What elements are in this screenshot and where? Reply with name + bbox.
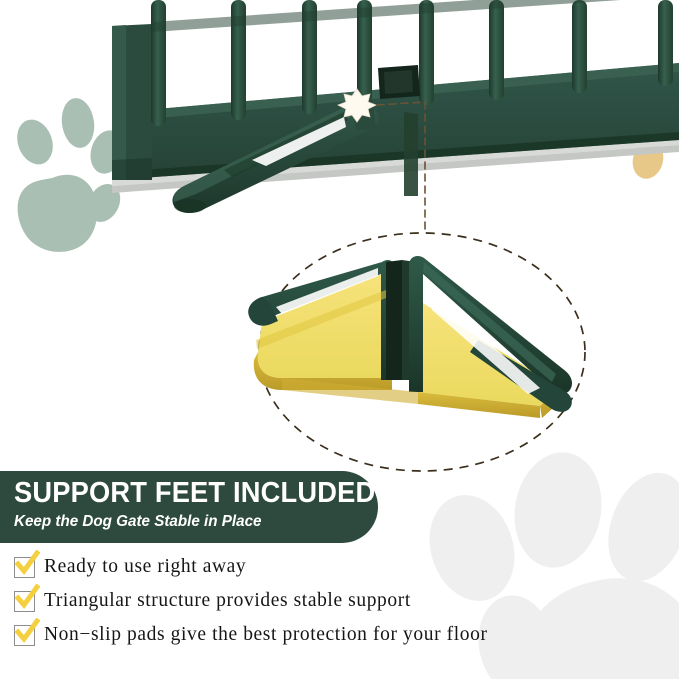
feature-label: Non−slip pads give the best protection f… <box>44 624 488 646</box>
checkbox-checked-icon <box>14 591 35 612</box>
checkbox-checked-icon <box>14 557 35 578</box>
banner-headline: SUPPORT FEET INCLUDED <box>14 478 356 509</box>
magnified-support-feet <box>248 256 572 418</box>
feature-label: Triangular structure provides stable sup… <box>44 590 411 612</box>
feature-item: Ready to use right away <box>14 552 654 582</box>
support-feet-banner: SUPPORT FEET INCLUDED Keep the Dog Gate … <box>0 471 378 543</box>
product-feature-image: SUPPORT FEET INCLUDED Keep the Dog Gate … <box>0 0 679 679</box>
checkbox-checked-icon <box>14 625 35 646</box>
check-mark-icon <box>14 584 40 610</box>
banner-subtitle: Keep the Dog Gate Stable in Place <box>14 512 360 532</box>
feature-item: Non−slip pads give the best protection f… <box>14 620 654 650</box>
check-mark-icon <box>14 618 40 644</box>
support-foot-right <box>409 256 572 418</box>
support-foot-left <box>248 260 395 390</box>
feature-label: Ready to use right away <box>44 556 246 578</box>
feature-list: Ready to use right away Triangular struc… <box>14 552 654 654</box>
check-mark-icon <box>14 550 40 576</box>
callout-leader-line <box>377 102 425 232</box>
feature-item: Triangular structure provides stable sup… <box>14 586 654 616</box>
